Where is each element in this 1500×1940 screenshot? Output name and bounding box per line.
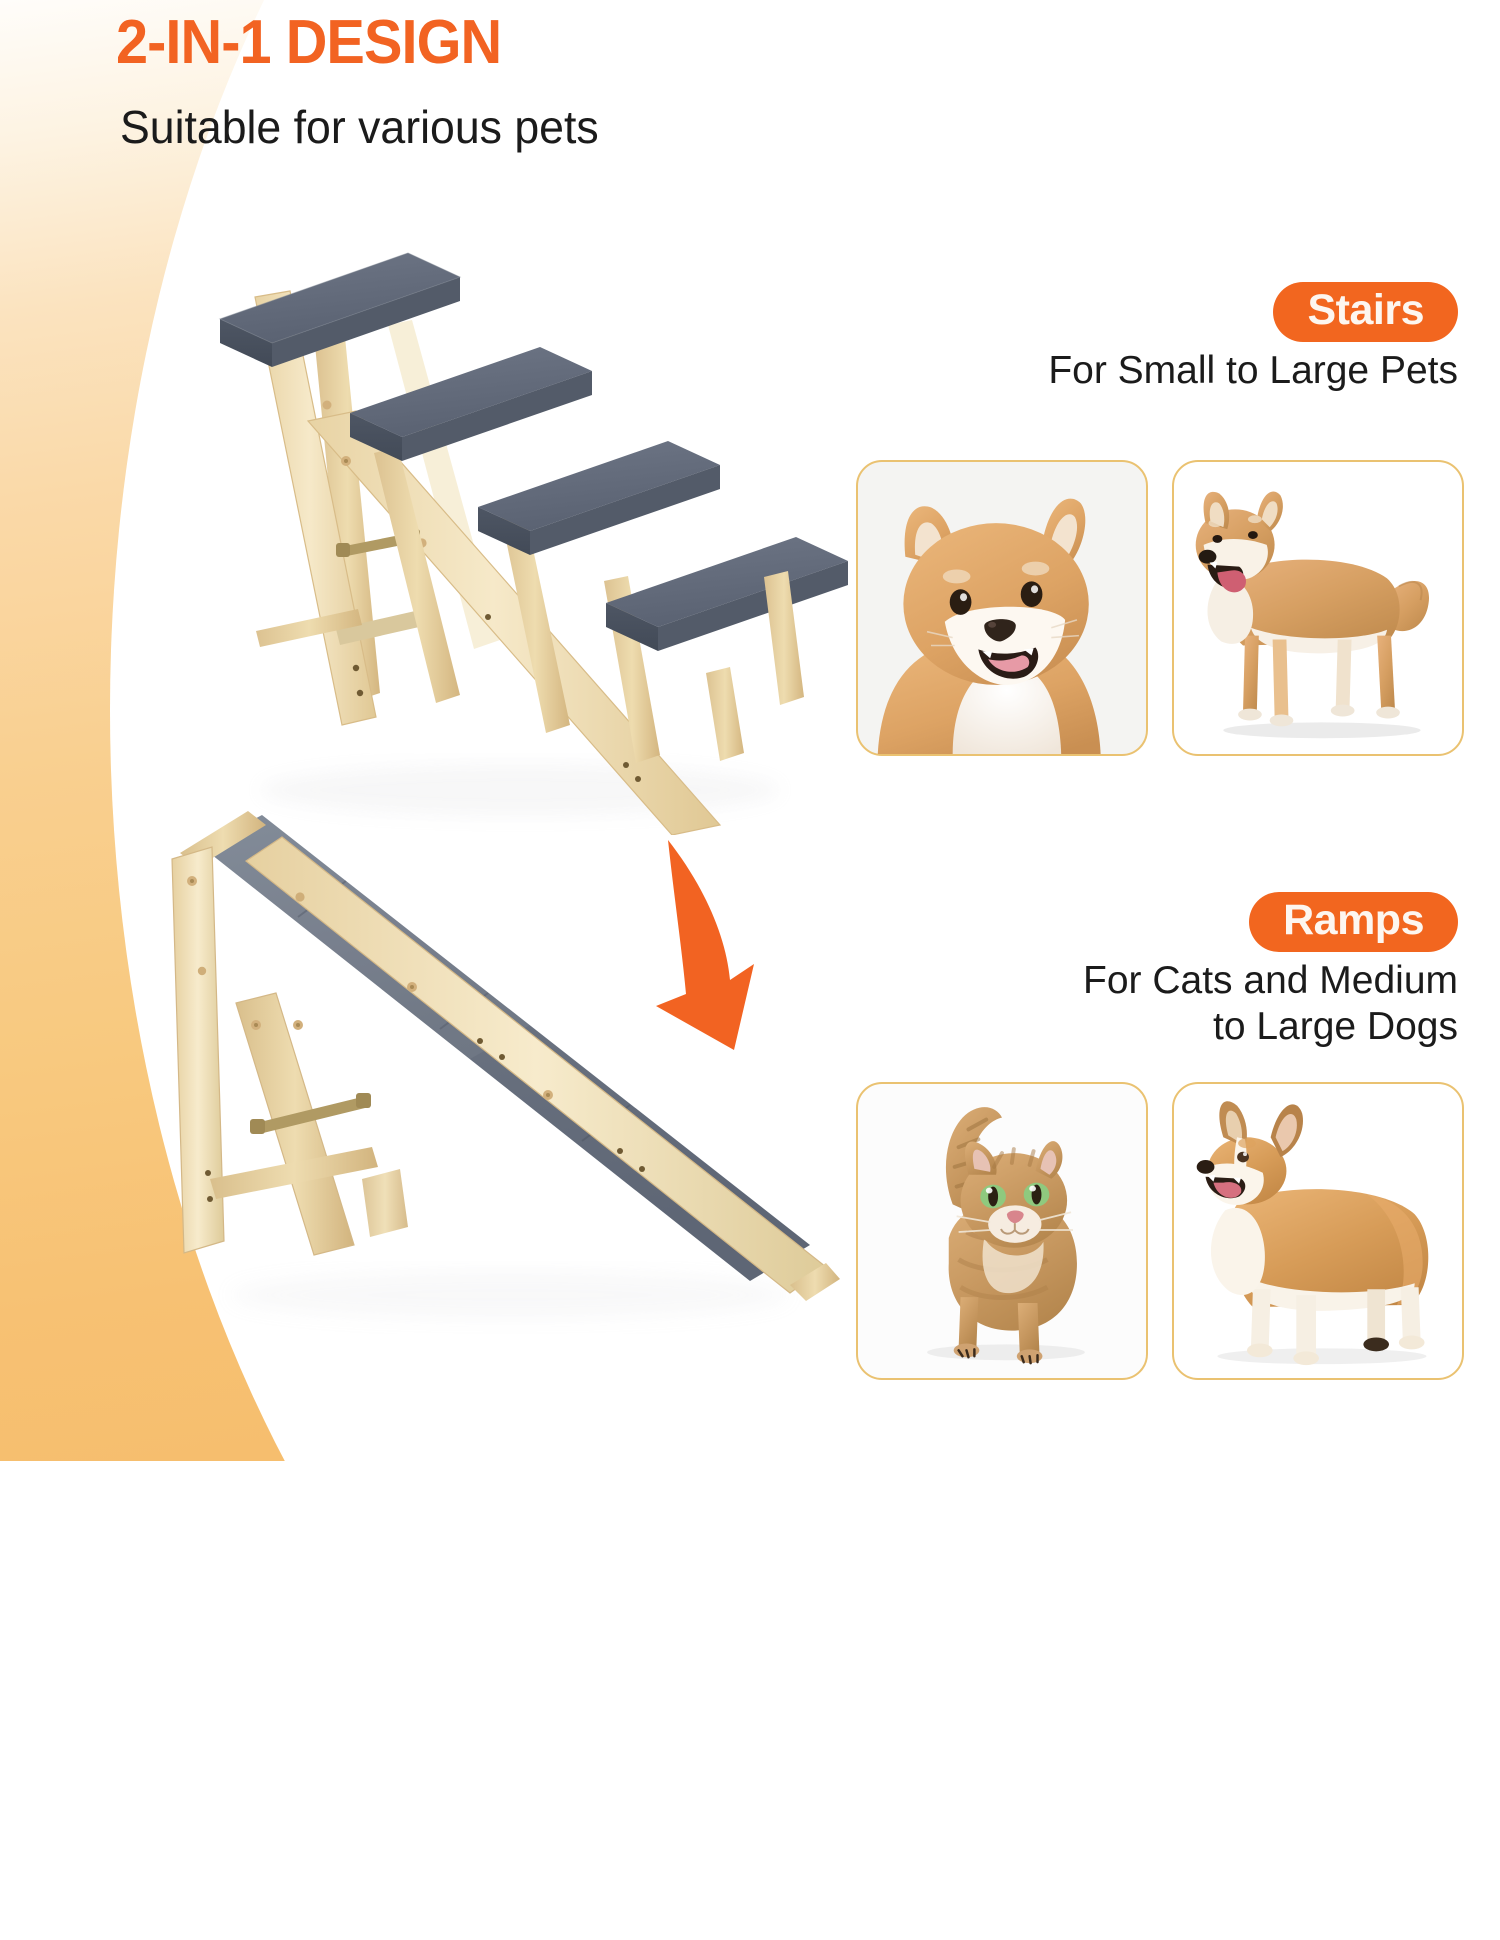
photo-frame-shiba-puppy (856, 460, 1148, 756)
shiba-adult-image (1174, 462, 1462, 754)
corgi-image (1174, 1084, 1462, 1378)
section-stairs: Stairs For Small to Large Pets (840, 282, 1480, 394)
stairs-photo-grid (856, 460, 1464, 756)
stairs-badge-row: Stairs (840, 282, 1480, 342)
ramps-badge-row: Ramps (840, 892, 1480, 952)
transform-arrow (630, 828, 830, 1063)
stair-step-3 (478, 441, 720, 555)
shiba-puppy-image (858, 462, 1146, 754)
stair-step-4 (606, 537, 848, 651)
pet-stairs-illustration (160, 225, 850, 835)
photo-frame-tabby-cat (856, 1082, 1148, 1380)
section-ramps: Ramps For Cats and Medium to Large Dogs (840, 892, 1480, 1050)
stairs-caption: For Small to Large Pets (840, 348, 1480, 394)
curved-down-arrow-icon (630, 828, 830, 1063)
stairs-badge: Stairs (1273, 282, 1458, 342)
product-photo-stairs (160, 225, 850, 835)
ramps-caption: For Cats and Medium to Large Dogs (840, 958, 1480, 1050)
stair-step-2 (350, 347, 592, 461)
tabby-cat-image (858, 1084, 1146, 1378)
page-title: 2-IN-1 DESIGN (116, 10, 501, 75)
ramps-photo-grid (856, 1082, 1464, 1380)
page-subtitle: Suitable for various pets (120, 100, 599, 154)
photo-frame-corgi (1172, 1082, 1464, 1380)
photo-frame-shiba-adult (1172, 460, 1464, 756)
ramps-badge: Ramps (1249, 892, 1458, 952)
